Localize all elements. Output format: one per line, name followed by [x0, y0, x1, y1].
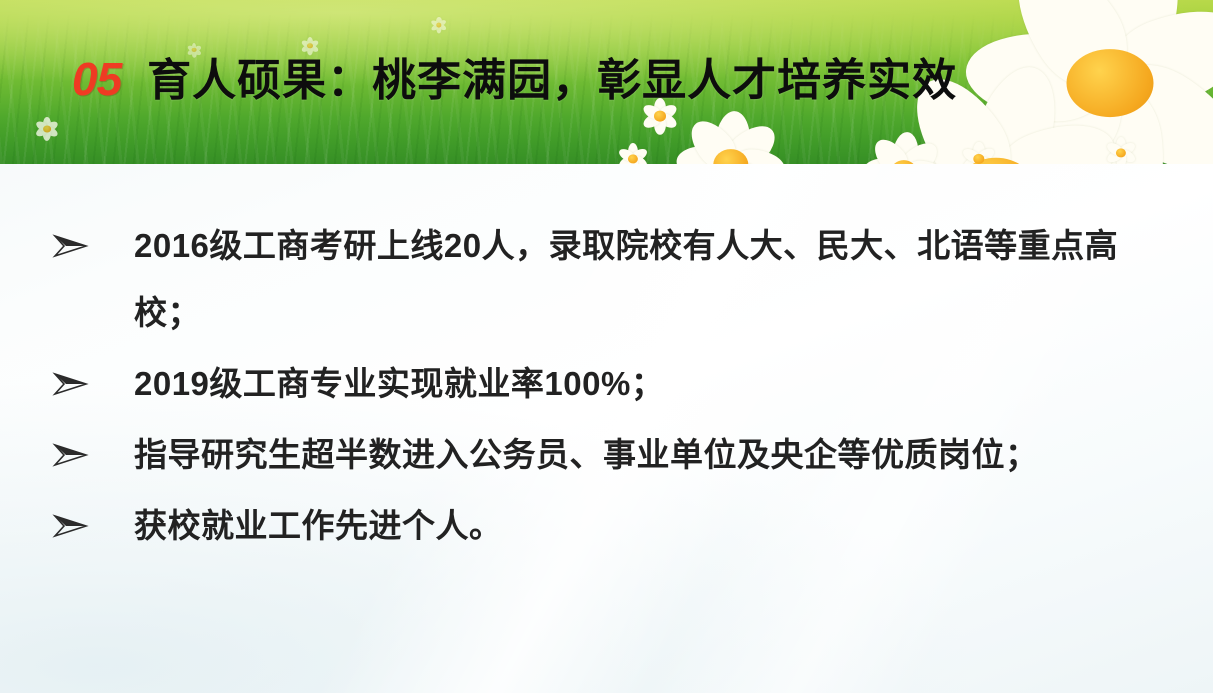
daisy-petal [657, 111, 679, 131]
daisy-petal [192, 43, 197, 50]
list-item: 2019级工商专业实现就业率100%； [52, 350, 1182, 417]
daisy-petal [675, 143, 732, 164]
daisy-petal [713, 109, 753, 164]
daisy-petal [891, 131, 921, 164]
daisy-petal [961, 154, 982, 164]
daisy-petal [654, 116, 666, 134]
slide-banner: 05 育人硕果：桃李满园，彰显人才培养实效 [0, 0, 1213, 164]
arrowhead-bullet-icon [52, 350, 134, 396]
daisy-flower-icon [1104, 136, 1138, 164]
list-item: 指导研究生超半数进入公务员、事业单位及央企等优质岗位； [52, 421, 1182, 488]
daisy-flower-icon [34, 116, 60, 142]
daisy-petal [617, 155, 636, 164]
daisy-petal [868, 138, 999, 164]
daisy-petal [720, 117, 784, 164]
daisy-center [436, 23, 441, 28]
daisy-petal [994, 0, 1146, 107]
arrowhead-bullet-icon [52, 421, 134, 467]
daisy-center [973, 154, 984, 164]
daisy-petal [43, 117, 51, 129]
daisy-petal [1116, 153, 1126, 164]
daisy-center [654, 111, 666, 122]
daisy-petal [193, 48, 202, 56]
arrowhead-bullet-icon [52, 212, 134, 258]
daisy-petal [683, 112, 745, 164]
daisy-petal [628, 143, 638, 159]
daisy-petal [978, 53, 1141, 164]
slide-title-row: 05 育人硕果：桃李满园，彰显人才培养实效 [72, 56, 957, 103]
daisy-petal [193, 44, 202, 52]
daisy-petal [641, 111, 663, 131]
daisy-petal [35, 120, 49, 133]
daisy-petal [186, 48, 195, 56]
daisy-petal [617, 147, 636, 164]
daisy-flower-icon [965, 0, 1213, 164]
daisy-petal [717, 154, 779, 164]
daisy-flower-icon [960, 140, 998, 164]
daisy-center [43, 125, 51, 132]
list-item-text: 指导研究生超半数进入公务员、事业单位及央企等优质岗位； [134, 421, 1182, 488]
daisy-petal [678, 151, 742, 164]
daisy-petal [438, 19, 448, 28]
daisy-petal [301, 43, 312, 53]
bullet-list: 2016级工商考研上线20人，录取院校有人大、民大、北语等重点高校； 2019级… [52, 212, 1182, 563]
daisy-center [1067, 49, 1154, 117]
daisy-petal [1105, 149, 1124, 164]
daisy-petal [35, 126, 49, 139]
daisy-petal [863, 155, 906, 164]
list-item-text: 获校就业工作先进个人。 [134, 492, 1182, 559]
daisy-center [713, 149, 748, 164]
presentation-slide: 05 育人硕果：桃李满园，彰显人才培养实效 2016级工商考研上线20人，录取院… [0, 0, 1213, 693]
daisy-center [307, 43, 313, 48]
daisy-petal [962, 27, 1114, 127]
daisy-petal [1116, 137, 1126, 153]
daisy-petal [1067, 77, 1173, 164]
daisy-petal [436, 25, 441, 33]
daisy-petal [977, 155, 1123, 164]
daisy-center [628, 154, 638, 163]
daisy-petal [868, 133, 914, 164]
daisy-petal [43, 129, 51, 141]
daisy-petal [307, 37, 313, 46]
daisy-center [1116, 148, 1126, 157]
daisy-petal [436, 17, 441, 25]
daisy-petal [896, 136, 944, 164]
arrowhead-bullet-icon [52, 492, 134, 538]
daisy-petal [630, 155, 649, 164]
daisy-petal [186, 44, 195, 52]
daisy-petal [307, 46, 313, 55]
daisy-petal [301, 39, 312, 49]
daisy-petal [431, 19, 441, 28]
daisy-petal [45, 120, 59, 133]
daisy-petal [976, 145, 997, 164]
daisy-flower-icon [616, 142, 650, 164]
daisy-petal [438, 23, 448, 32]
daisy-petal [1088, 46, 1213, 164]
daisy-flower-icon [300, 36, 320, 56]
daisy-petal [309, 43, 320, 53]
daisy-petal [1118, 141, 1137, 158]
daisy-petal [1118, 149, 1137, 164]
daisy-petal [1105, 141, 1124, 158]
slide-content: 2016级工商考研上线20人，录取院校有人大、民大、北语等重点高校； 2019级… [0, 164, 1213, 693]
daisy-flower-icon [672, 106, 790, 164]
list-item-text: 2019级工商专业实现就业率100%； [134, 350, 1182, 417]
section-number: 05 [72, 56, 121, 102]
daisy-petal [309, 39, 320, 49]
daisy-flower-icon [430, 16, 448, 34]
daisy-petal [983, 108, 1126, 164]
list-item-text: 2016级工商考研上线20人，录取院校有人大、民大、北语等重点高校； [134, 212, 1182, 346]
daisy-petal [961, 145, 982, 164]
daisy-petal [1069, 0, 1197, 96]
daisy-petal [973, 142, 984, 159]
list-item: 2016级工商考研上线20人，录取院校有人大、民大、北语等重点高校； [52, 212, 1182, 346]
daisy-center [192, 48, 197, 52]
page-title: 育人硕果：桃李满园，彰显人才培养实效 [147, 59, 957, 103]
list-item: 获校就业工作先进个人。 [52, 492, 1182, 559]
daisy-flower-icon [860, 128, 948, 164]
daisy-petal [630, 147, 649, 164]
daisy-petal [1095, 0, 1213, 124]
daisy-petal [960, 57, 1070, 164]
daisy-petal [976, 154, 997, 164]
daisy-petal [45, 126, 59, 139]
daisy-petal [431, 23, 441, 32]
daisy-petal [729, 147, 786, 164]
